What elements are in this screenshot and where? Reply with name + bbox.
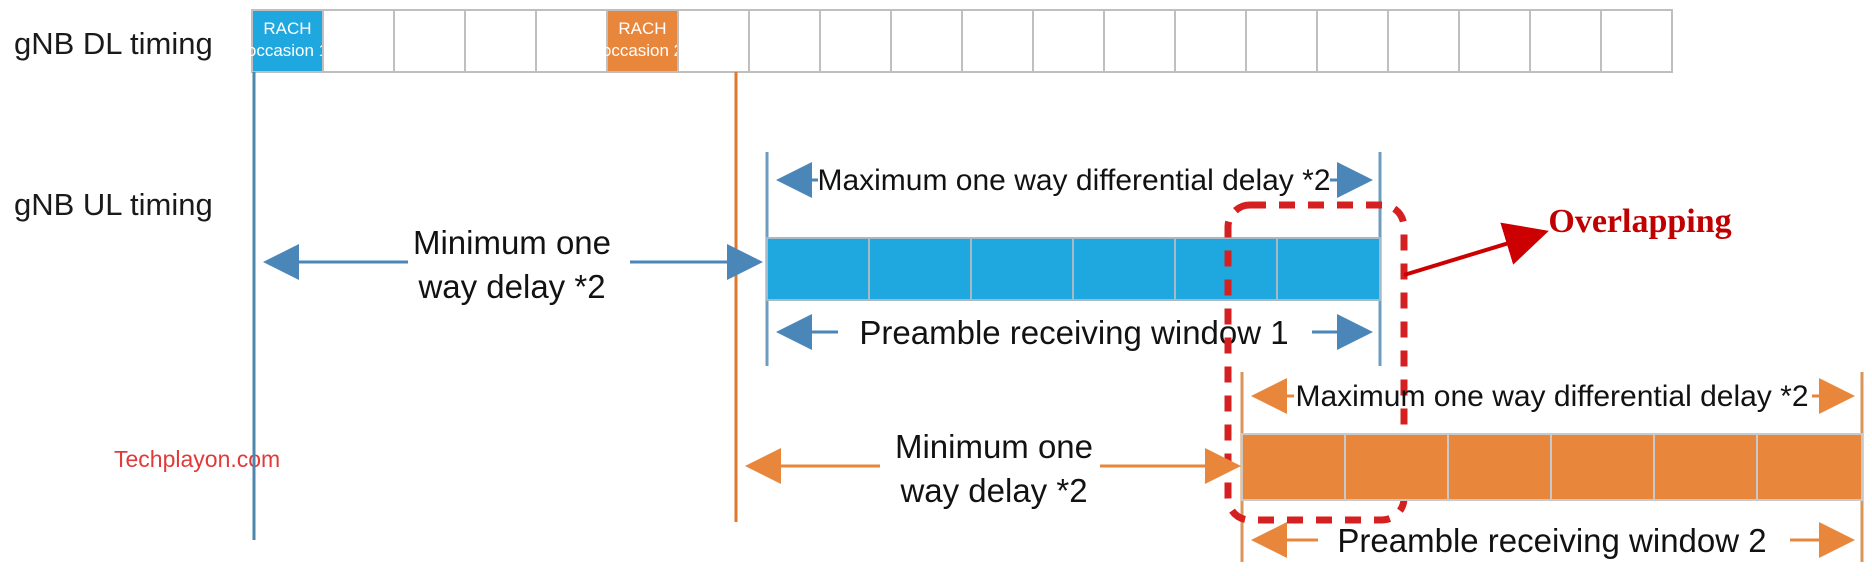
dl-cell-8 (820, 10, 891, 72)
dl-cell-16 (1388, 10, 1459, 72)
dl-cell-6 (678, 10, 749, 72)
window2-bar-segment-2 (1345, 434, 1448, 500)
window2-min-delay-label-line2: way delay *2 (899, 472, 1087, 509)
window1-bar-segment-6 (1277, 238, 1380, 300)
dl-cell-13 (1175, 10, 1246, 72)
dl-cell-7 (749, 10, 820, 72)
dl-cell-5-line1: RACH (618, 19, 666, 38)
dl-cell-10 (962, 10, 1033, 72)
diagram-canvas: RACH occasion 1 RACH occasion 2 (0, 0, 1872, 576)
overlap-label: Overlapping (1548, 203, 1731, 240)
dl-cell-4 (536, 10, 607, 72)
window2-min-delay-label-line1: Minimum one (895, 428, 1093, 465)
window1-bar-segment-1 (767, 238, 869, 300)
window1-bar-segment-3 (971, 238, 1073, 300)
dl-cell-9 (891, 10, 962, 72)
dl-cell-11 (1033, 10, 1104, 72)
dl-cell-3 (465, 10, 536, 72)
preamble-window-1-bar (767, 238, 1380, 300)
window1-bar-segment-2 (869, 238, 971, 300)
window1-min-delay-label-line1: Minimum one (413, 224, 611, 261)
dl-cell-19 (1601, 10, 1672, 72)
dl-cell-14 (1246, 10, 1317, 72)
window2-max-delay-measure: Maximum one way differential delay *2 (1254, 380, 1852, 413)
rach-timing-diagram: gNB DL timing gNB UL timing Techplayon.c… (0, 0, 1872, 576)
window1-max-delay-label: Maximum one way differential delay *2 (817, 164, 1330, 197)
window1-min-delay-label-line2: way delay *2 (417, 268, 605, 305)
dl-cell-17 (1459, 10, 1530, 72)
window2-bar-segment-1 (1242, 434, 1345, 500)
preamble-window-1-measure: Preamble receiving window 1 (779, 314, 1370, 351)
preamble-window-2-bar (1242, 434, 1862, 500)
dl-cell-18 (1530, 10, 1601, 72)
window1-bar-segment-4 (1073, 238, 1175, 300)
window2-max-delay-label: Maximum one way differential delay *2 (1295, 380, 1808, 413)
window2-bar-segment-4 (1551, 434, 1654, 500)
preamble-window-2-measure: Preamble receiving window 2 (1254, 522, 1852, 559)
dl-cell-12 (1104, 10, 1175, 72)
window2-bar-segment-5 (1654, 434, 1757, 500)
dl-cell-0-line1: RACH (263, 19, 311, 38)
overlap-callout-arrow (1404, 232, 1545, 275)
window2-preamble-label: Preamble receiving window 2 (1337, 522, 1766, 559)
window1-max-delay-measure: Maximum one way differential delay *2 (779, 164, 1370, 197)
dl-cell-2 (394, 10, 465, 72)
dl-cell-15 (1317, 10, 1388, 72)
window2-bar-segment-3 (1448, 434, 1551, 500)
dl-cell-0-line2: occasion 1 (247, 41, 328, 60)
window1-preamble-label: Preamble receiving window 1 (859, 314, 1288, 351)
window1-min-delay-measure: Minimum one way delay *2 (266, 224, 760, 305)
dl-cell-5-line2: occasion 2 (602, 41, 683, 60)
dl-cell-1 (323, 10, 394, 72)
window2-min-delay-measure: Minimum one way delay *2 (748, 428, 1238, 509)
window2-bar-segment-6 (1757, 434, 1862, 500)
dl-slot-grid: RACH occasion 1 RACH occasion 2 (247, 10, 1672, 72)
